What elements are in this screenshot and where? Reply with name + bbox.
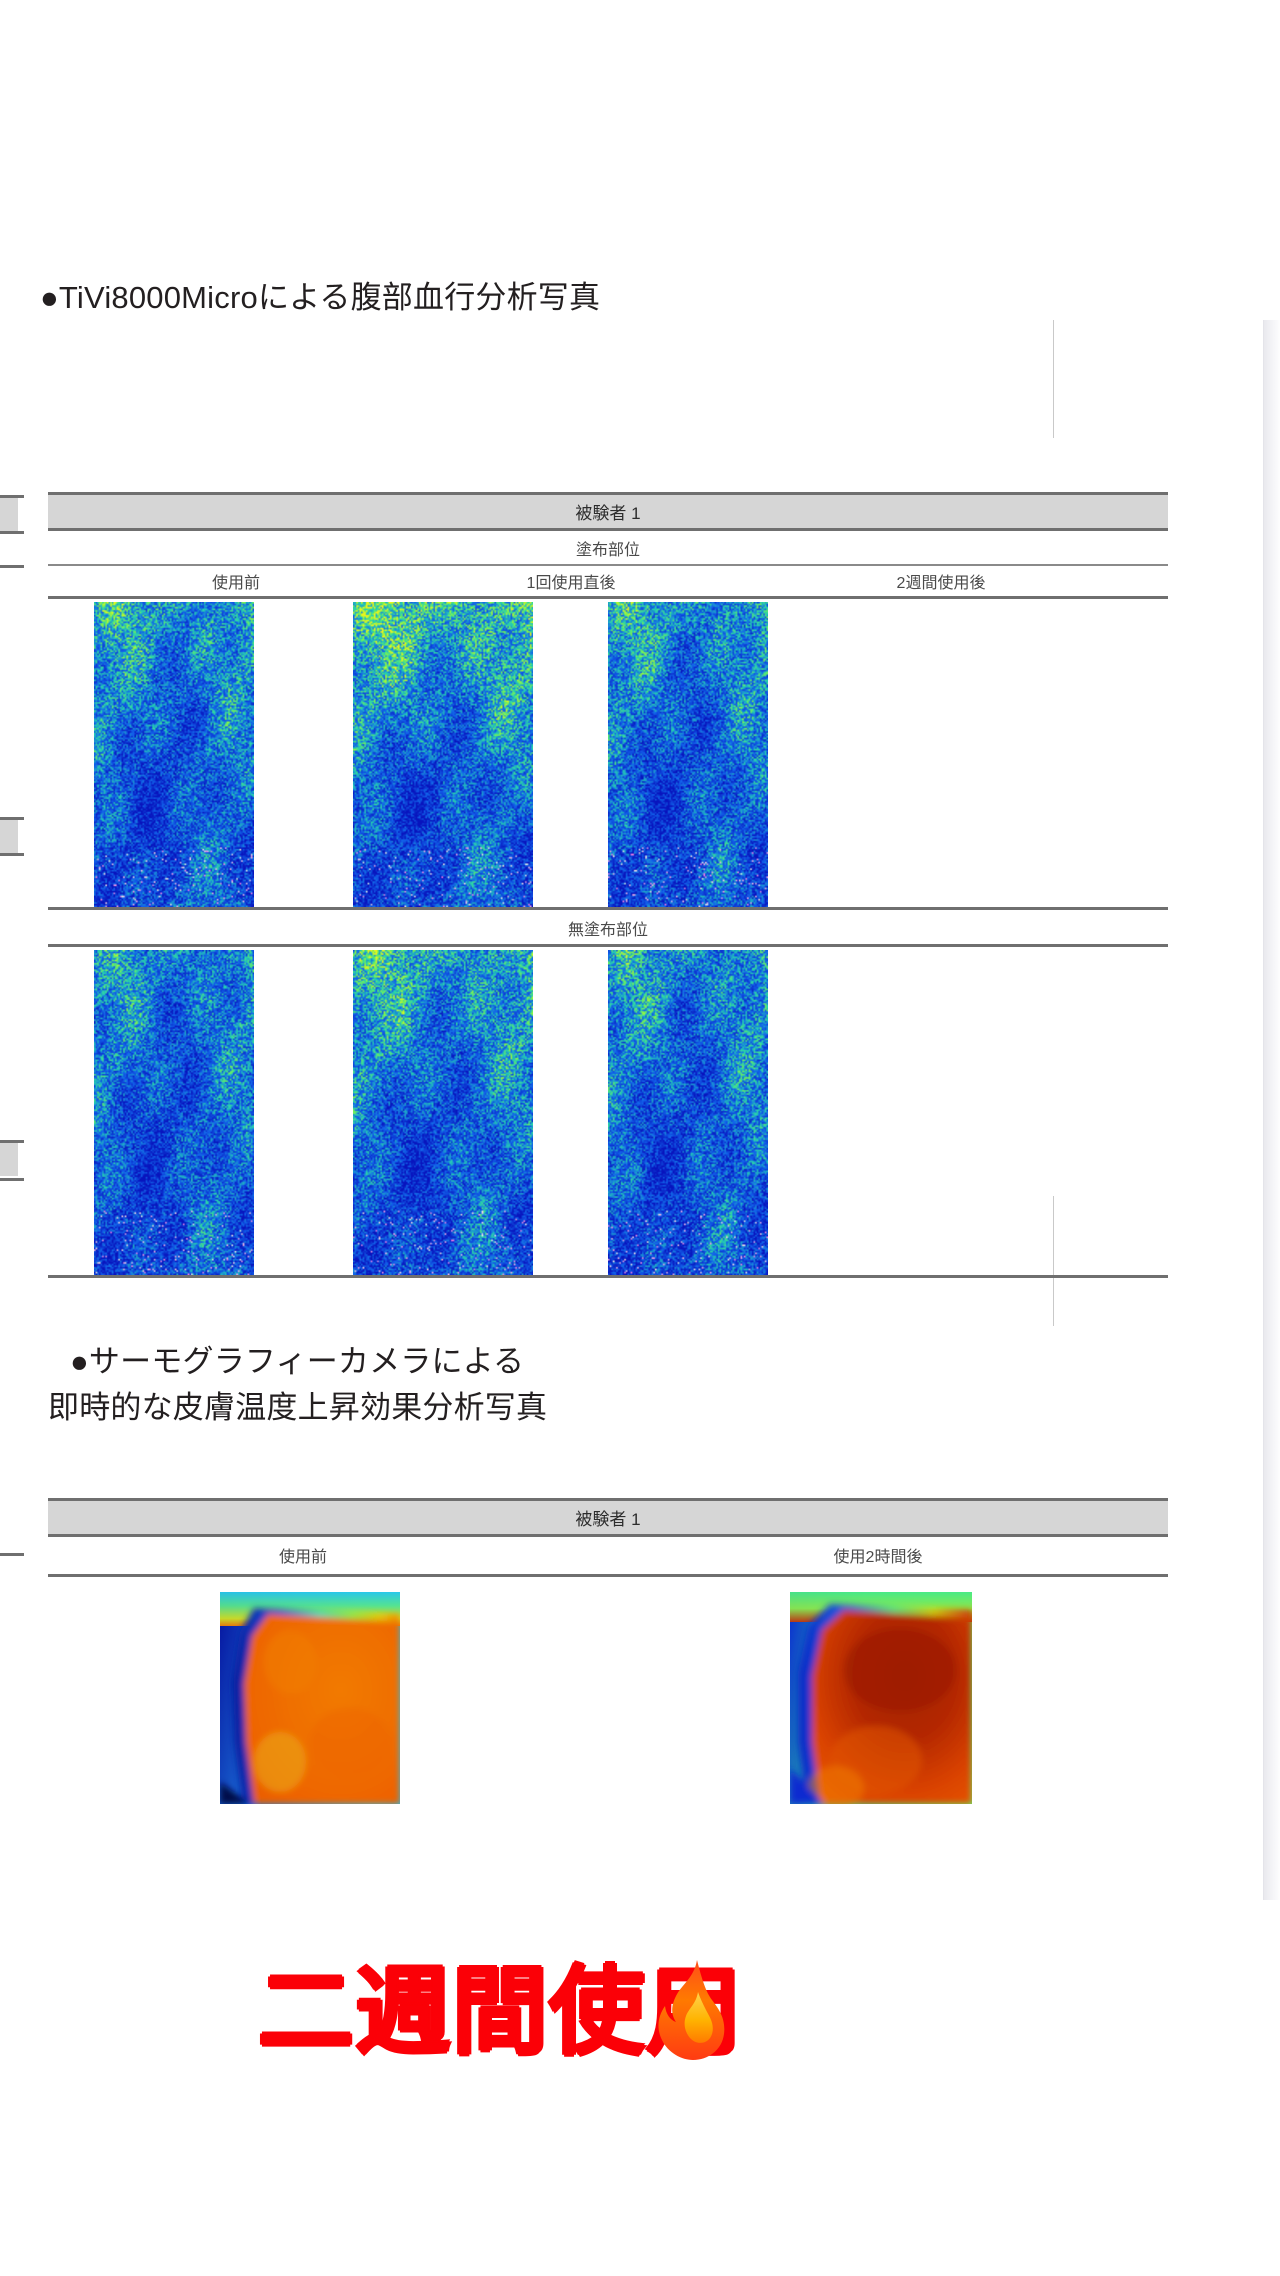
adjacent-table-rule-1 <box>0 495 24 498</box>
perfusion-image-untreated-after-2weeks <box>608 950 768 1275</box>
perfusion-section-heading: ●TiVi8000Microによる腹部血行分析写真 <box>40 278 600 318</box>
adjacent-table-band-3 <box>0 1143 18 1176</box>
thermography-image-after-2h <box>790 1592 972 1804</box>
thermography-table: 被験者 1 使用前 使用2時間後 <box>48 1498 1168 1898</box>
adjacent-table-rule-2 <box>0 531 24 534</box>
doc-vertical-rule-top <box>1053 320 1054 438</box>
perfusion-noise-layer <box>94 602 254 907</box>
perfusion-image-untreated-before <box>94 950 254 1275</box>
adjacent-table-band-2 <box>0 820 18 853</box>
adjacent-table-rule-8 <box>0 1553 24 1556</box>
perfusion-table: 被験者 1 塗布部位 使用前 1回使用直後 2週間使用後 <box>48 492 1168 1282</box>
adjacent-table-band-1 <box>0 498 18 531</box>
perfusion-rule-under-group-1 <box>48 564 1168 566</box>
thermography-subject-label: 被験者 1 <box>575 1505 640 1530</box>
thermography-rule-under-headers <box>48 1574 1168 1577</box>
adjacent-table-rule-6 <box>0 1140 24 1143</box>
perfusion-group-label-1: 塗布部位 <box>48 534 1168 562</box>
perfusion-noise-layer <box>94 950 254 1275</box>
perfusion-noise-layer <box>353 950 533 1275</box>
perfusion-group-label-2: 無塗布部位 <box>48 914 1168 942</box>
perfusion-image-applied-after-2weeks <box>608 602 768 907</box>
perfusion-rule-bottom <box>48 1275 1168 1278</box>
adjacent-table-rule-7 <box>0 1178 24 1181</box>
perfusion-rule-mid <box>48 907 1168 910</box>
thermography-section-heading-line1: ●サーモグラフィーカメラによる <box>70 1342 524 1382</box>
thermal-render-after <box>790 1592 972 1804</box>
adjacent-table-rule-5 <box>0 853 24 856</box>
perfusion-noise-layer <box>608 950 768 1275</box>
perfusion-rule-under-headers <box>48 596 1168 599</box>
thermography-col-header-0: 使用前 <box>203 1542 403 1568</box>
thermography-rule-under-subject <box>48 1534 1168 1537</box>
perfusion-image-applied-before <box>94 602 254 907</box>
perfusion-noise-layer <box>353 602 533 907</box>
perfusion-rule-under-subject <box>48 528 1168 531</box>
thermography-section-heading-line2: 即時的な皮膚温度上昇効果分析写真 <box>48 1388 547 1428</box>
perfusion-rule-under-group-2 <box>48 944 1168 947</box>
perfusion-noise-layer <box>608 602 768 907</box>
perfusion-col-header-0: 使用前 <box>126 568 346 594</box>
slide-page: ●TiVi8000Microによる腹部血行分析写真 被験者 1 塗布部位 使用前… <box>0 0 1280 2276</box>
perfusion-subject-band: 被験者 1 <box>48 495 1168 528</box>
card-right-edge <box>1263 320 1280 1900</box>
perfusion-image-applied-after-1use <box>353 602 533 907</box>
thermography-subject-band: 被験者 1 <box>48 1501 1168 1534</box>
thermal-render-before <box>220 1592 400 1804</box>
adjacent-table-rule-4 <box>0 817 24 820</box>
adjacent-table-rule-3 <box>0 565 24 568</box>
thermography-col-header-1: 使用2時間後 <box>768 1542 988 1568</box>
perfusion-col-header-2: 2週間使用後 <box>831 568 1051 594</box>
perfusion-col-header-1: 1回使用直後 <box>461 568 681 594</box>
fire-emoji-icon <box>654 1958 728 2062</box>
thermography-image-before <box>220 1592 400 1804</box>
perfusion-subject-label: 被験者 1 <box>575 499 640 524</box>
perfusion-image-untreated-after-1use <box>353 950 533 1275</box>
